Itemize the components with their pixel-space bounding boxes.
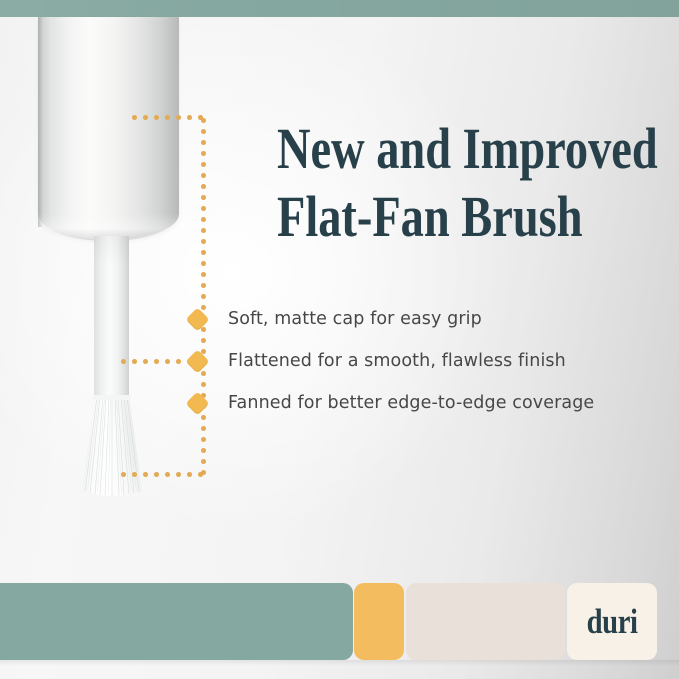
diamond-bullet-icon [185, 349, 209, 373]
dotted-leader-cap [129, 115, 206, 120]
cap-left-edge-shading [38, 17, 43, 227]
headline-line-1: New and Improved [277, 117, 593, 181]
bar-segment-beige [406, 583, 565, 660]
list-item-label: Flattened for a smooth, flawless finish [228, 351, 566, 371]
polish-cap [38, 17, 179, 240]
bottom-bar-shadow [0, 660, 679, 666]
diamond-bullet-icon [185, 391, 209, 415]
list-item-label: Soft, matte cap for easy grip [228, 309, 482, 329]
list-item: Fanned for better edge-to-edge coverage [183, 382, 653, 424]
bottom-color-bar: duri [0, 583, 679, 660]
brand-logo-text: duri [586, 602, 637, 642]
dotted-leader-bristles [118, 472, 206, 477]
brush-handle-shading [94, 236, 129, 399]
list-item-label: Fanned for better edge-to-edge coverage [228, 393, 594, 413]
bar-segment-amber [354, 583, 404, 660]
top-strip-shading [0, 0, 679, 17]
list-item: Flattened for a smooth, flawless finish [183, 340, 653, 382]
headline-line-2: Flat-Fan Brush [277, 185, 593, 249]
brush-bristles-icon [62, 395, 162, 499]
advertisement-graphic: New and Improved Flat-Fan Brush Soft, ma… [0, 0, 679, 679]
bar-segment-sage [0, 583, 353, 660]
top-accent-strip [0, 0, 679, 17]
diamond-bullet-icon [185, 307, 209, 331]
feature-list: Soft, matte cap for easy grip Flattened … [183, 298, 653, 424]
product-image [0, 17, 240, 497]
list-item: Soft, matte cap for easy grip [183, 298, 653, 340]
brand-logo-tile: duri [567, 583, 657, 660]
page-title: New and Improved Flat-Fan Brush [277, 117, 672, 249]
